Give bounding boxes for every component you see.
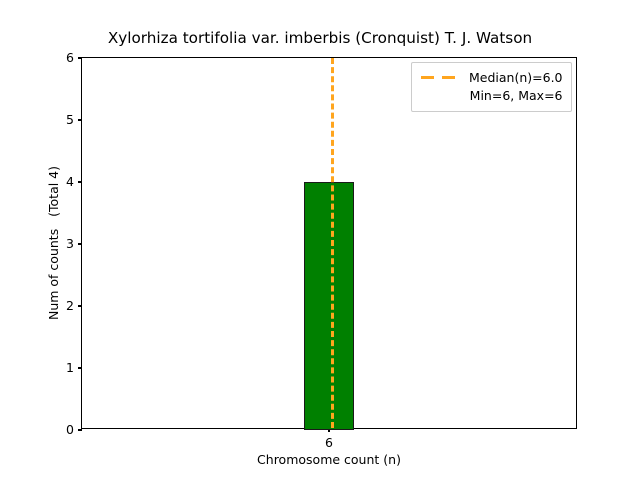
plot-area: 0 1 2 3 4 5 6 6 <box>81 57 577 429</box>
legend-entry-median: Median(n)=6.0 <box>420 69 563 87</box>
y-tick-mark <box>78 57 82 58</box>
y-tick-mark <box>78 181 82 182</box>
chart-title: Xylorhiza tortifolia var. imberbis (Cron… <box>0 29 640 47</box>
median-line <box>331 58 334 428</box>
bar-chromosome-count-6 <box>304 182 354 430</box>
y-tick-mark <box>78 429 82 430</box>
x-axis-label: Chromosome count (n) <box>81 452 577 468</box>
chart-figure: Xylorhiza tortifolia var. imberbis (Cron… <box>0 0 640 480</box>
dashed-line-icon <box>420 69 460 87</box>
chart-legend: Median(n)=6.0 Min=6, Max=6 <box>411 62 572 112</box>
legend-label-minmax: Min=6, Max=6 <box>470 87 563 105</box>
y-tick-mark <box>78 305 82 306</box>
y-tick-mark <box>78 367 82 368</box>
x-tick-label: 6 <box>289 435 369 451</box>
legend-label-median: Median(n)=6.0 <box>469 69 563 87</box>
y-axis-label: Num of counts (Total 4) <box>46 57 62 429</box>
y-tick-mark <box>78 243 82 244</box>
legend-entry-minmax: Min=6, Max=6 <box>420 87 563 105</box>
y-tick-mark <box>78 119 82 120</box>
